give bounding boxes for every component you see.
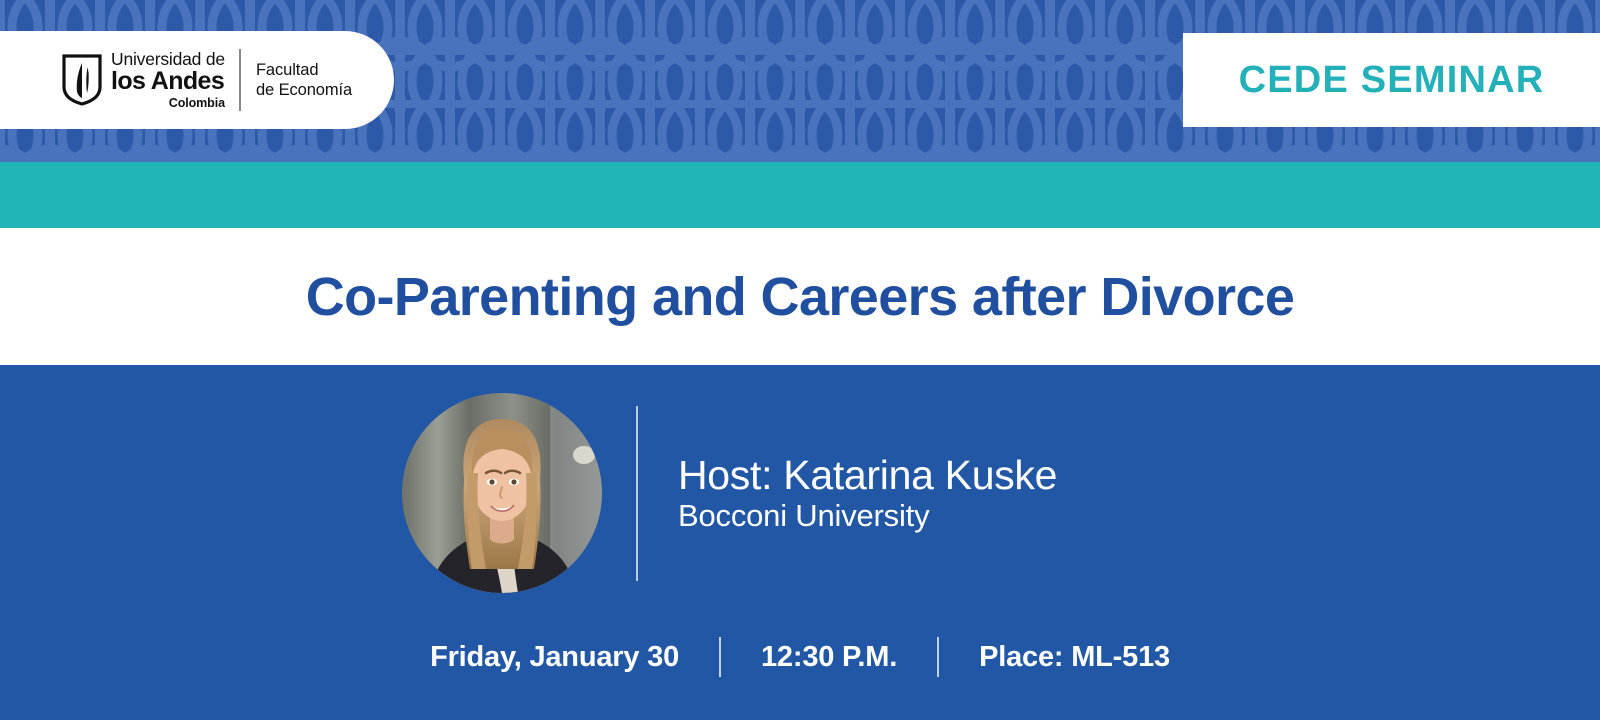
university-country: Colombia (111, 97, 225, 110)
speaker-divider (636, 406, 638, 581)
seminar-title: Co-Parenting and Careers after Divorce (306, 266, 1295, 328)
logo-divider (239, 49, 241, 111)
andes-shield-icon (62, 54, 102, 106)
cede-seminar-badge: CEDE SEMINAR (1183, 33, 1600, 127)
speaker-section: Host: Katarina Kuske Bocconi University … (0, 365, 1600, 720)
faculty-line2: de Economía (256, 80, 352, 100)
event-place: Place: ML-513 (979, 641, 1170, 674)
speaker-affiliation: Bocconi University (678, 499, 1198, 534)
speaker-portrait (402, 393, 602, 593)
university-name-line1: Universidad de (111, 51, 225, 69)
title-band: Co-Parenting and Careers after Divorce (0, 228, 1600, 365)
speaker-info: Host: Katarina Kuske Bocconi University (678, 453, 1198, 534)
university-logo-card: Universidad de los Andes Colombia Facult… (0, 31, 394, 129)
university-name-line2: los Andes (111, 69, 225, 94)
faculty-name: Facultad de Economía (256, 60, 352, 100)
event-details-row: Friday, January 30 12:30 P.M. Place: ML-… (0, 627, 1600, 687)
speaker-host-name: Host: Katarina Kuske (678, 453, 1198, 497)
faculty-line1: Facultad (256, 60, 352, 80)
teal-accent-band (0, 162, 1600, 228)
detail-divider-1 (719, 637, 721, 677)
detail-divider-2 (937, 637, 939, 677)
event-time: 12:30 P.M. (761, 641, 897, 674)
event-date: Friday, January 30 (430, 641, 679, 674)
header-band: Universidad de los Andes Colombia Facult… (0, 0, 1600, 162)
seminar-banner: Universidad de los Andes Colombia Facult… (0, 0, 1600, 720)
university-wordmark: Universidad de los Andes Colombia (111, 51, 225, 110)
speaker-row: Host: Katarina Kuske Bocconi University (0, 393, 1600, 593)
cede-seminar-label: CEDE SEMINAR (1239, 59, 1545, 102)
